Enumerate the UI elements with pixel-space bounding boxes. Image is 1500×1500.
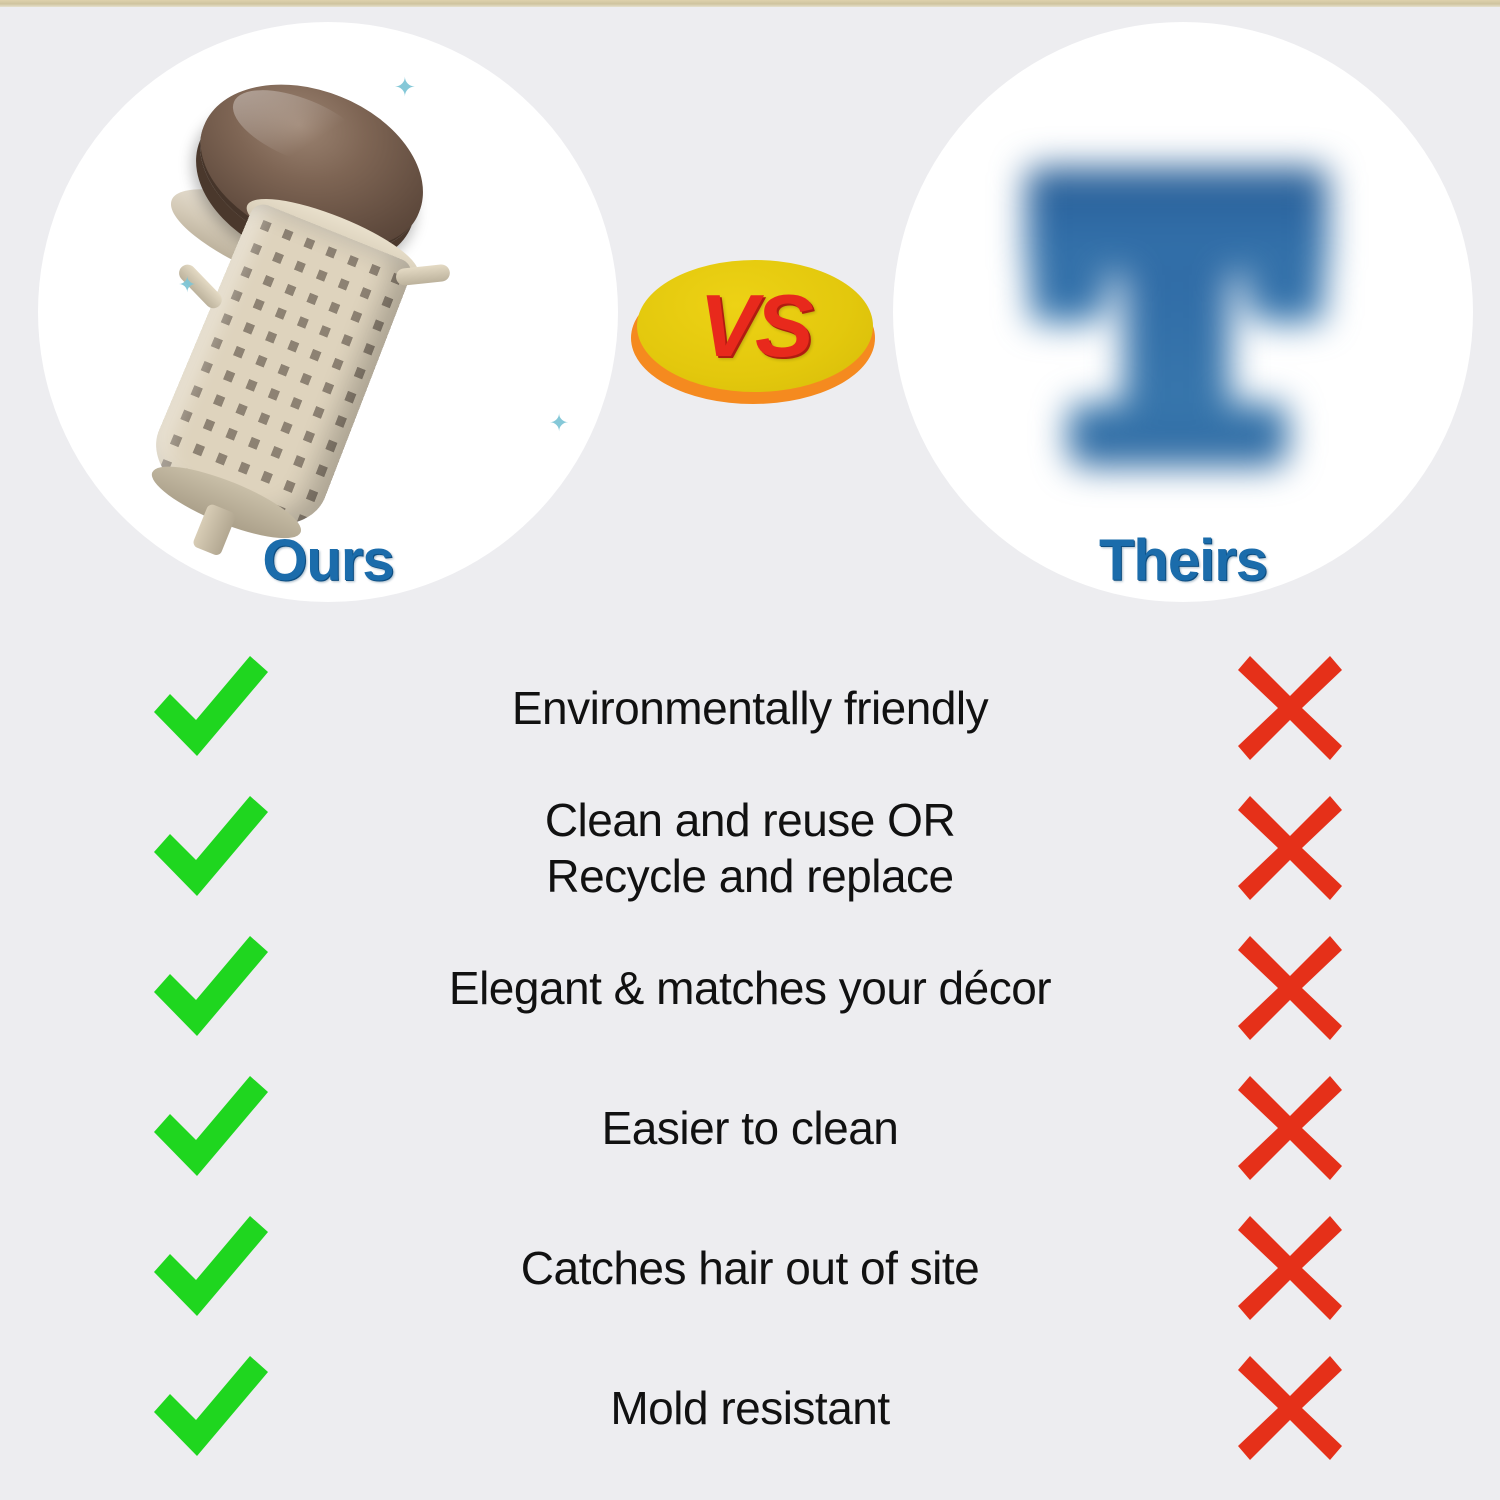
ours-circle: ✦ ✦ ✦ Ours (38, 22, 618, 602)
feature-label: Elegant & matches your décor (420, 960, 1080, 1016)
sparkle-icon: ✦ (178, 274, 196, 296)
ours-check-cell (0, 652, 420, 764)
comparison-infographic: ✦ ✦ ✦ Ours Theirs VS Environmentally fri… (0, 0, 1500, 1500)
cross-icon (1234, 932, 1346, 1044)
theirs-cross-cell (1080, 1212, 1500, 1324)
ours-check-cell (0, 1212, 420, 1324)
theirs-cross-cell (1080, 652, 1500, 764)
cross-icon (1234, 1352, 1346, 1464)
versus-badge: VS (629, 258, 877, 404)
sparkle-icon: ✦ (549, 412, 569, 436)
theirs-cross-cell (1080, 1072, 1500, 1184)
feature-row: Elegant & matches your décor (0, 918, 1500, 1058)
ours-label: Ours (38, 527, 618, 594)
check-icon (146, 1072, 274, 1184)
strainer-base (1068, 403, 1288, 467)
feature-label: Easier to clean (420, 1100, 1080, 1156)
cross-icon (1234, 1212, 1346, 1324)
check-icon (146, 1352, 274, 1464)
cross-icon (1234, 792, 1346, 904)
ours-check-cell (0, 792, 420, 904)
theirs-cross-cell (1080, 792, 1500, 904)
feature-label: Mold resistant (420, 1380, 1080, 1436)
feature-label: Catches hair out of site (420, 1240, 1080, 1296)
feature-row: Easier to clean (0, 1058, 1500, 1198)
feature-row: Environmentally friendly (0, 638, 1500, 778)
feature-label: Clean and reuse OR Recycle and replace (420, 792, 1080, 904)
sparkle-icon: ✦ (394, 74, 416, 100)
ours-check-cell (0, 932, 420, 1044)
top-edge-strip (0, 0, 1500, 7)
check-icon (146, 652, 274, 764)
theirs-product-image (1012, 145, 1342, 475)
feature-label: Environmentally friendly (420, 680, 1080, 736)
feature-row: Mold resistant (0, 1338, 1500, 1478)
check-icon (146, 792, 274, 904)
check-icon (146, 932, 274, 1044)
ours-product-image (69, 22, 597, 561)
check-icon (146, 1212, 274, 1324)
ours-check-cell (0, 1352, 420, 1464)
feature-row: Clean and reuse OR Recycle and replace (0, 778, 1500, 918)
versus-badge-text: VS (637, 260, 873, 392)
theirs-cross-cell (1080, 932, 1500, 1044)
theirs-label: Theirs (893, 527, 1473, 594)
cross-icon (1234, 1072, 1346, 1184)
cross-icon (1234, 652, 1346, 764)
ours-check-cell (0, 1072, 420, 1184)
theirs-cross-cell (1080, 1352, 1500, 1464)
feature-row: Catches hair out of site (0, 1198, 1500, 1338)
feature-comparison-list: Environmentally friendlyClean and reuse … (0, 638, 1500, 1478)
